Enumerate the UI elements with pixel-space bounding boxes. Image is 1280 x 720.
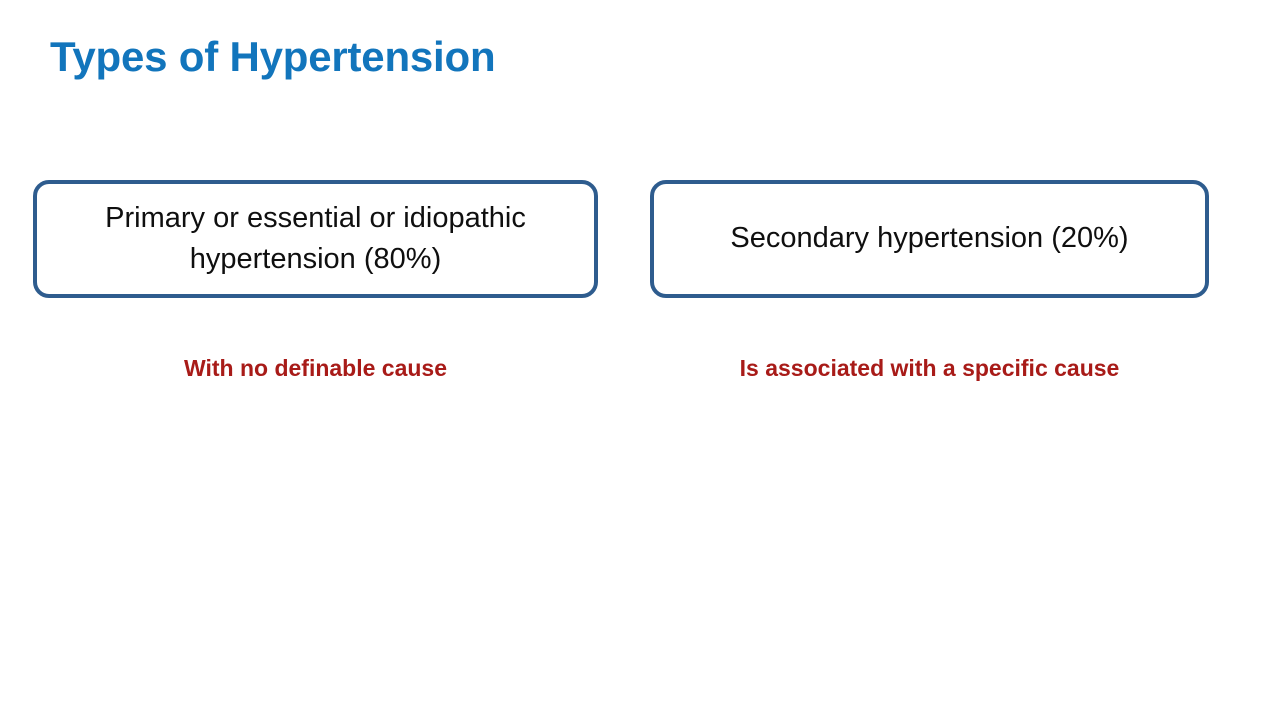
caption-secondary: Is associated with a specific cause — [650, 355, 1209, 383]
hypertension-type-box-primary-label: Primary or essential or idiopathic hyper… — [59, 198, 572, 280]
hypertension-type-box-secondary-label: Secondary hypertension (20%) — [676, 218, 1183, 259]
box-primary-line-1: Primary or essential or idiopathic — [105, 202, 526, 234]
caption-primary: With no definable cause — [33, 355, 598, 383]
hypertension-type-box-primary: Primary or essential or idiopathic hyper… — [33, 180, 598, 298]
hypertension-type-box-secondary: Secondary hypertension (20%) — [650, 180, 1209, 298]
page-title: Types of Hypertension — [50, 33, 495, 81]
presentation-slide: Types of Hypertension Primary or essenti… — [0, 0, 1280, 720]
box-primary-line-2: hypertension (80%) — [190, 243, 441, 275]
